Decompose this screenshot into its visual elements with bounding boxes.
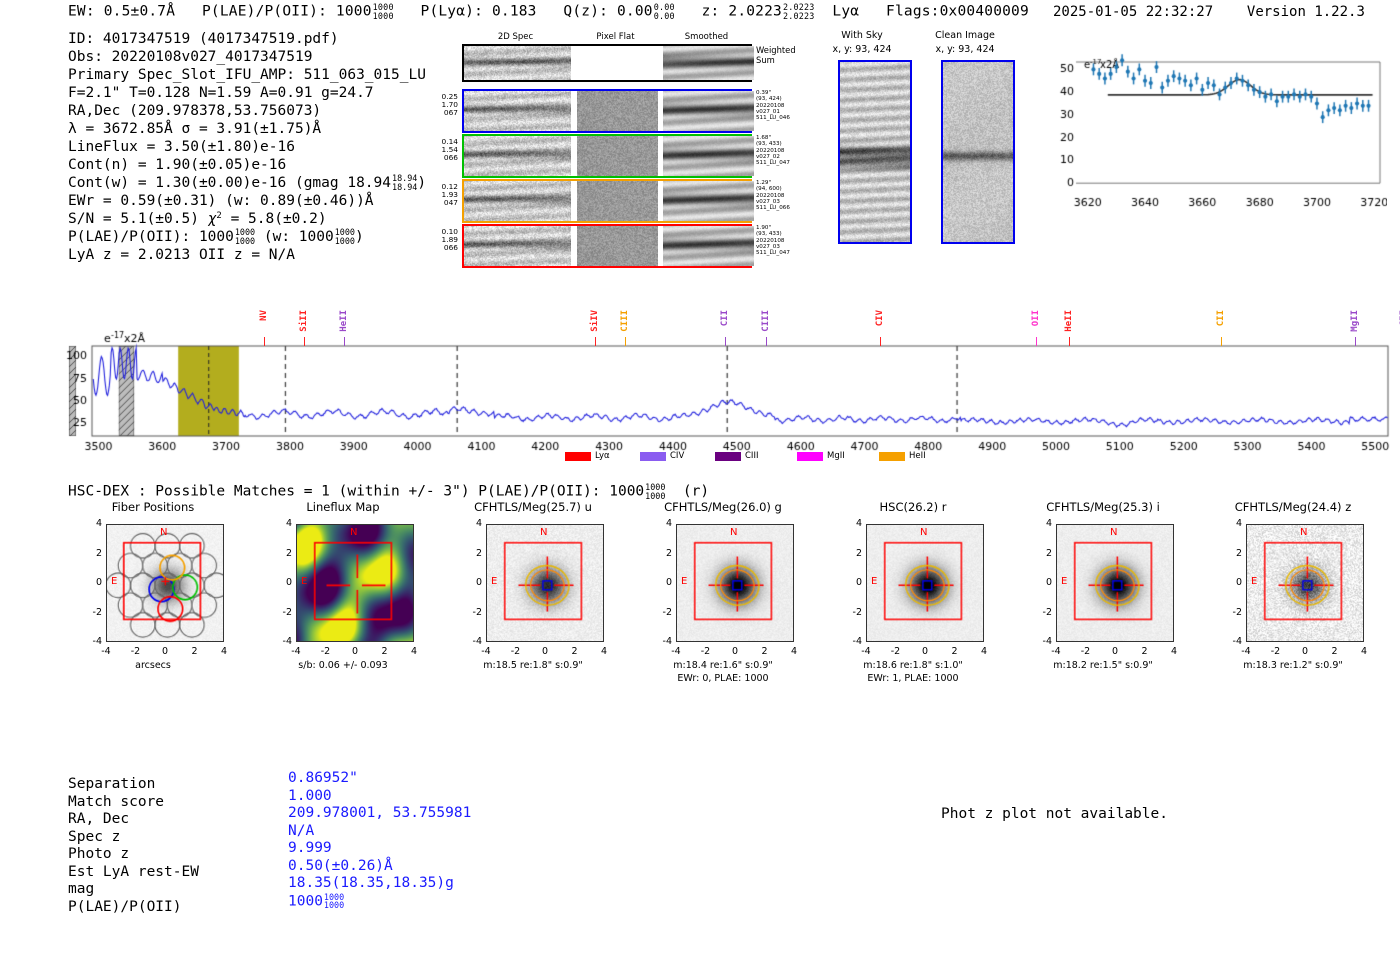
with-sky-coords: x, y: 93, 424 <box>812 44 912 55</box>
info-seeing: F=2.1" T=0.128 N=1.59 A=0.91 g=24.7 <box>68 84 426 102</box>
cutout-xtick: -4 <box>288 646 304 657</box>
cutout-ytick: 2 <box>1228 548 1242 559</box>
emission-line-tick <box>344 337 345 346</box>
spec2d-row <box>462 224 752 268</box>
clean-image <box>941 60 1015 244</box>
cutout-ytick: 4 <box>658 518 672 529</box>
east-label: E <box>871 576 877 587</box>
east-label: E <box>301 576 307 587</box>
emission-line-tick <box>625 337 626 346</box>
weighted-sum-row <box>462 44 752 82</box>
cutout-ytick: 4 <box>88 518 102 529</box>
cutout-xtick: 0 <box>537 646 553 657</box>
info-id: ID: 4017347519 (4017347519.pdf) <box>68 30 426 48</box>
cutout-sub1: s/b: 0.06 +/- 0.093 <box>248 660 438 671</box>
emission-line-tick <box>766 337 767 346</box>
north-label: N <box>160 527 167 538</box>
info-lambda: λ = 3672.85Å σ = 3.91(±1.75)Å <box>68 120 426 138</box>
cutout-xtick: -2 <box>888 646 904 657</box>
info-radec: RA,Dec (209.978378,53.756073) <box>68 102 426 120</box>
cutout-xtick: 4 <box>596 646 612 657</box>
emission-line-label: HeII <box>1064 310 1074 332</box>
table-row-value: 18.35(18.35,18.35)g <box>288 875 454 893</box>
cutout-ytick: 0 <box>658 577 672 588</box>
emission-line-label: MgII <box>1350 310 1360 332</box>
north-label: N <box>350 527 357 538</box>
info-obs: Obs: 20220108v027_4017347519 <box>68 48 426 66</box>
cutout-ytick: 2 <box>1038 548 1052 559</box>
north-label: N <box>1110 527 1117 538</box>
cutout-xtick: 0 <box>1297 646 1313 657</box>
cutout-image[interactable] <box>106 524 224 642</box>
cutout-xtick: -4 <box>98 646 114 657</box>
east-label: E <box>681 576 687 587</box>
emission-line-label: SiIV <box>590 310 600 332</box>
spec2d-row-right-labels: 1.90"(93, 433)20220108v027_03511_LU_047 <box>756 225 808 256</box>
info-cont-w: Cont(w) = 1.30(±0.00)e-16 (gmag 18.9418.… <box>68 174 426 192</box>
header-z: z: 2.0223 <box>702 4 782 20</box>
cutout-title: CFHTLS/Meg(24.4) z <box>1198 500 1388 514</box>
table-row-value: 9.999 <box>288 840 332 858</box>
cutout-xtick: 0 <box>1107 646 1123 657</box>
east-label: E <box>111 576 117 587</box>
cutout-ytick: -2 <box>88 607 102 618</box>
two-d-spectra-group: 2D Spec Pixel Flat Smoothed Weighted Sum… <box>420 32 805 247</box>
spec2d-row <box>462 134 752 178</box>
cutout-xtick: 4 <box>1166 646 1182 657</box>
cutout-xtick: -4 <box>1048 646 1064 657</box>
cutout-ytick: 4 <box>1228 518 1242 529</box>
header-plae: P(LAE)/P(OII): 1000 <box>202 4 372 20</box>
table-row-value: 0.86952" <box>288 770 358 788</box>
cutout-sub1: m:18.2 re:1.5" s:0.9" <box>1008 660 1198 671</box>
cutout-ytick: -2 <box>848 607 862 618</box>
table-row-label: Separation <box>68 776 155 794</box>
table-row-label: P(LAE)/P(OII) <box>68 899 182 917</box>
hscdex-summary-line: HSC-DEX : Possible Matches = 1 (within +… <box>68 483 709 500</box>
cutout-xtick: 2 <box>757 646 773 657</box>
emission-line-tick <box>304 337 305 346</box>
emission-line-fit-plot <box>1042 50 1387 225</box>
emission-line-tick <box>595 337 596 346</box>
emission-line-label: CIV <box>875 310 885 326</box>
north-label: N <box>920 527 927 538</box>
cutout-xtick: 2 <box>377 646 393 657</box>
cutout-ytick: 2 <box>658 548 672 559</box>
cutout-ytick: -2 <box>468 607 482 618</box>
cutout-image[interactable] <box>1056 524 1174 642</box>
cutout-ytick: -2 <box>1038 607 1052 618</box>
cutout-xtick: -2 <box>508 646 524 657</box>
cutout-ytick: -2 <box>278 607 292 618</box>
emission-line-tick <box>1036 337 1037 346</box>
cutout-xtick: -2 <box>318 646 334 657</box>
object-info-block: ID: 4017347519 (4017347519.pdf) Obs: 202… <box>68 30 426 264</box>
emission-line-tick <box>1069 337 1070 346</box>
cutout-sub1: arcsecs <box>58 660 248 671</box>
table-row-value: 209.978001, 53.755981 <box>288 805 471 823</box>
info-lineflux: LineFlux = 3.50(±1.80)e-16 <box>68 138 426 156</box>
cutout-xtick: 0 <box>157 646 173 657</box>
emission-line-label: CIII <box>761 310 771 332</box>
emission-line-tick <box>1355 337 1356 346</box>
version-label: Version 1.22.3 <box>1247 4 1365 20</box>
table-row-label: Photo z <box>68 846 129 864</box>
timestamp: 2025-01-05 22:32:27 <box>1053 4 1213 20</box>
table-row-label: mag <box>68 881 94 899</box>
cutout-image[interactable] <box>676 524 794 642</box>
legend-swatch <box>797 452 823 461</box>
info-primary-amp: Primary Spec_Slot_IFU_AMP: 511_063_015_L… <box>68 66 426 84</box>
cutout-sub2: EWr: 1, PLAE: 1000 <box>818 673 1008 684</box>
cutout-ytick: 4 <box>468 518 482 529</box>
table-row-label: Est LyA rest-EW <box>68 864 199 882</box>
header-summary-line: EW: 0.5±0.7Å P(LAE)/P(OII): 100010001000… <box>68 3 1029 20</box>
spec2d-row-left-labels: 0.101.89066 <box>420 228 458 252</box>
cutout-xtick: -2 <box>1268 646 1284 657</box>
cutout-ytick: 0 <box>1228 577 1242 588</box>
legend-swatch <box>879 452 905 461</box>
legend-swatch <box>715 452 741 461</box>
legend-swatch <box>640 452 666 461</box>
cutout-ytick: 0 <box>848 577 862 588</box>
cutout-ytick: 2 <box>278 548 292 559</box>
cutout-xtick: -4 <box>478 646 494 657</box>
info-redshifts: LyA z = 2.0213 OII z = N/A <box>68 246 426 264</box>
timestamp-version: 2025-01-05 22:32:27 Version 1.22.3 <box>1053 4 1365 20</box>
cutout-panel[interactable]: CFHTLS/Meg(26.0) g420-2-4-4-2024m:18.4 r… <box>628 500 818 730</box>
table-row-value: 1.000 <box>288 788 332 806</box>
spec2d-row-left-labels: 0.251.70067 <box>420 93 458 117</box>
table-row-value: 0.50(±0.26)Å <box>288 858 393 876</box>
spec2d-row <box>462 89 752 133</box>
cutout-xtick: 4 <box>406 646 422 657</box>
cutout-image[interactable] <box>296 524 414 642</box>
spec2d-title-pixelflat: Pixel Flat <box>575 32 656 42</box>
cutout-xtick: -2 <box>128 646 144 657</box>
emission-line-label: CII <box>720 310 730 326</box>
cutout-title: Fiber Positions <box>58 500 248 514</box>
full-spectrum-plot: NVSiIIHeIISiIVCIIICIICIIICIVOIIHeIICIIMg… <box>60 310 1390 470</box>
cutout-xtick: 2 <box>947 646 963 657</box>
cutout-image[interactable] <box>486 524 604 642</box>
cutout-sub1: m:18.4 re:1.6" s:0.9" <box>628 660 818 671</box>
cutout-title: HSC(26.2) r <box>818 500 1008 514</box>
legend-swatch <box>565 452 591 461</box>
north-label: N <box>730 527 737 538</box>
spec2d-title-smoothed: Smoothed <box>661 32 752 42</box>
cutout-panel[interactable]: Lineflux Map420-2-4-4-2024s/b: 0.06 +/- … <box>248 500 438 730</box>
cutout-title: CFHTLS/Meg(26.0) g <box>628 500 818 514</box>
legend-label: CIII <box>745 451 758 461</box>
cutout-xtick: -4 <box>858 646 874 657</box>
clean-image-title: Clean Image <box>915 30 1015 41</box>
cutout-ytick: 4 <box>278 518 292 529</box>
clean-image-coords: x, y: 93, 424 <box>915 44 1015 55</box>
header-ew: EW: 0.5±0.7Å <box>68 4 175 20</box>
info-ewr: EWr = 0.59(±0.31) (w: 0.89(±0.46))Å <box>68 192 426 210</box>
spec2d-row-right-labels: 1.68"(93, 433)20220108v027_02511_LU_047 <box>756 135 808 166</box>
cutout-xtick: 2 <box>1137 646 1153 657</box>
legend-label: Lyα <box>595 451 610 461</box>
cutout-ytick: 4 <box>848 518 862 529</box>
header-qz: Q(z): 0.00 <box>563 4 652 20</box>
emission-line-label: HeII <box>339 310 349 332</box>
cutout-image[interactable] <box>866 524 984 642</box>
spec2d-row-left-labels: 0.141.54066 <box>420 138 458 162</box>
cutout-xtick: 4 <box>216 646 232 657</box>
cutout-title: CFHTLS/Meg(25.3) i <box>1008 500 1198 514</box>
cutout-ytick: 4 <box>1038 518 1052 529</box>
cutout-xtick: -4 <box>1238 646 1254 657</box>
emission-line-label: CII <box>1216 310 1226 326</box>
table-row-label: Spec z <box>68 829 120 847</box>
cutout-xtick: 0 <box>727 646 743 657</box>
emission-line-tick <box>1221 337 1222 346</box>
east-label: E <box>1061 576 1067 587</box>
east-label: E <box>491 576 497 587</box>
cutout-xtick: 4 <box>976 646 992 657</box>
legend-label: CIV <box>670 451 684 461</box>
imaging-cutouts-row: Fiber Positions420-2-4-4-2024arcsecsNELi… <box>0 500 1400 730</box>
table-row-value: N/A <box>288 823 314 841</box>
north-label: N <box>1300 527 1307 538</box>
spec2d-row-right-labels: 0.39"(93, 424)20220108v027_01511_LU_046 <box>756 90 808 121</box>
cutout-xtick: -4 <box>668 646 684 657</box>
cutout-sub1: m:18.5 re:1.8" s:0.9" <box>438 660 628 671</box>
header-z-type: Lyα <box>832 4 859 20</box>
with-sky-title: With Sky <box>812 30 912 41</box>
cutout-xtick: 4 <box>786 646 802 657</box>
cutout-ytick: 2 <box>88 548 102 559</box>
cutout-sub2: EWr: 0, PLAE: 1000 <box>628 673 818 684</box>
photz-unavailable-message: Phot z plot not available. <box>941 806 1168 822</box>
header-flags: Flags:0x00400009 <box>886 4 1029 20</box>
cutout-panel[interactable]: CFHTLS/Meg(25.7) u420-2-4-4-2024m:18.5 r… <box>438 500 628 730</box>
emission-line-label: NV <box>259 310 269 321</box>
cutout-xtick: -2 <box>698 646 714 657</box>
with-sky-image <box>838 60 912 244</box>
info-plae: P(LAE)/P(OII): 100010001000 (w: 10001000… <box>68 228 426 246</box>
table-row-label: Match score <box>68 794 164 812</box>
table-row-label: RA, Dec <box>68 811 129 829</box>
spec2d-row-left-labels: 0.121.93047 <box>420 183 458 207</box>
legend-label: MgII <box>827 451 845 461</box>
emission-line-label: SiII <box>299 310 309 332</box>
emission-line-tick <box>264 337 265 346</box>
header-plya: P(Lyα): 0.183 <box>421 4 537 20</box>
cutout-sub1: m:18.3 re:1.2" s:0.9" <box>1198 660 1388 671</box>
cutout-sub1: m:18.6 re:1.8" s:1.0" <box>818 660 1008 671</box>
weighted-sum-label: Weighted Sum <box>756 46 796 65</box>
cutout-panel[interactable]: HSC(26.2) r420-2-4-4-2024m:18.6 re:1.8" … <box>818 500 1008 730</box>
cutout-ytick: -2 <box>1228 607 1242 618</box>
table-row-value: 100010001000 <box>288 893 344 911</box>
cutout-ytick: 2 <box>468 548 482 559</box>
cutout-title: Lineflux Map <box>248 500 438 514</box>
cutout-xtick: 0 <box>347 646 363 657</box>
legend-label: HeII <box>909 451 926 461</box>
cutout-panel[interactable]: CFHTLS/Meg(25.3) i420-2-4-4-2024m:18.2 r… <box>1008 500 1198 730</box>
east-label: E <box>1251 576 1257 587</box>
cutout-ytick: -2 <box>658 607 672 618</box>
cutout-xtick: 4 <box>1356 646 1372 657</box>
cutout-title: CFHTLS/Meg(25.7) u <box>438 500 628 514</box>
emission-line-tick <box>880 337 881 346</box>
north-label: N <box>540 527 547 538</box>
emission-line-label: OII <box>1031 310 1041 326</box>
cutout-ytick: 0 <box>1038 577 1052 588</box>
cutout-ytick: 0 <box>468 577 482 588</box>
cutout-xtick: -2 <box>1078 646 1094 657</box>
cutout-panel[interactable]: CFHTLS/Meg(24.4) z420-2-4-4-2024m:18.3 r… <box>1198 500 1388 730</box>
cutout-xtick: 0 <box>917 646 933 657</box>
spec2d-row-right-labels: 1.29"(94, 600)20220108v027_03511_LU_066 <box>756 180 808 211</box>
cutout-xtick: 2 <box>1327 646 1343 657</box>
emission-line-label: CIII <box>620 310 630 332</box>
cutout-xtick: 2 <box>187 646 203 657</box>
cutout-image[interactable] <box>1246 524 1364 642</box>
cutout-ytick: 2 <box>848 548 862 559</box>
info-cont-n: Cont(n) = 1.90(±0.05)e-16 <box>68 156 426 174</box>
cutout-panel[interactable]: Fiber Positions420-2-4-4-2024arcsecsNE <box>58 500 248 730</box>
spec2d-title-2dspec: 2D Spec <box>462 32 569 42</box>
cutout-ytick: 0 <box>88 577 102 588</box>
cutout-xtick: 2 <box>567 646 583 657</box>
cutout-ytick: 0 <box>278 577 292 588</box>
spec2d-row <box>462 179 752 223</box>
emission-line-tick <box>725 337 726 346</box>
info-sn-chi2: S/N = 5.1(±0.5) χ2 = 5.8(±0.2) <box>68 210 426 228</box>
